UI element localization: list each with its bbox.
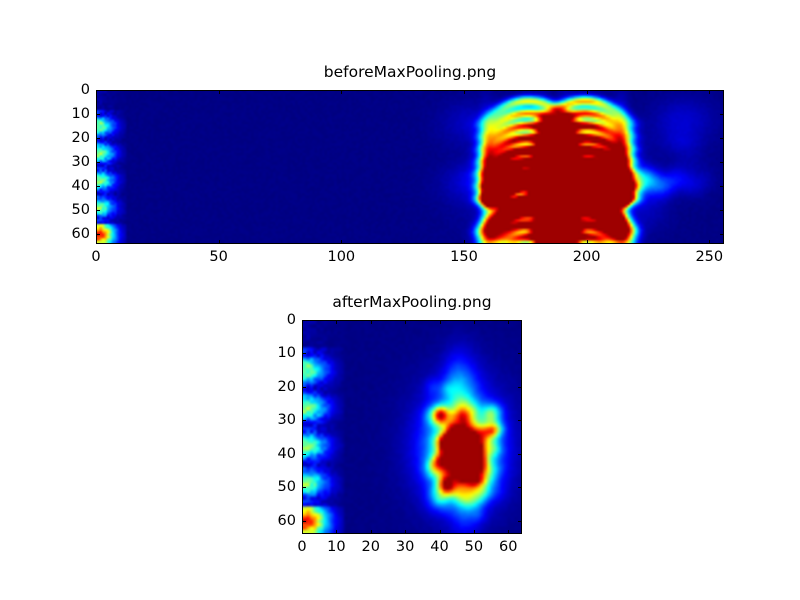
y-tick-right xyxy=(720,234,724,235)
x-tick-label: 150 xyxy=(450,250,478,265)
x-tick-top xyxy=(474,320,475,324)
y-tick-right xyxy=(720,138,724,139)
y-tick-label: 10 xyxy=(62,107,90,122)
heatmap-after-max-pooling xyxy=(302,320,522,534)
x-tick-top xyxy=(219,90,220,94)
y-tick xyxy=(96,162,100,163)
x-tick-top xyxy=(440,320,441,324)
y-tick-label: 20 xyxy=(62,131,90,146)
y-tick-label: 40 xyxy=(62,179,90,194)
heatmap-before-max-pooling xyxy=(96,90,724,244)
x-tick xyxy=(587,240,588,244)
x-tick xyxy=(464,240,465,244)
y-tick-right xyxy=(518,521,522,522)
y-tick xyxy=(96,186,100,187)
x-tick xyxy=(709,240,710,244)
x-tick-top xyxy=(405,320,406,324)
y-tick xyxy=(302,353,306,354)
y-tick xyxy=(302,387,306,388)
y-tick-right xyxy=(518,387,522,388)
x-tick-label: 0 xyxy=(91,250,100,265)
heatmap-canvas xyxy=(97,91,723,243)
y-tick-right xyxy=(518,420,522,421)
y-tick xyxy=(96,210,100,211)
y-tick-label: 10 xyxy=(268,346,296,361)
y-tick-label: 40 xyxy=(268,447,296,462)
x-tick-top xyxy=(464,90,465,94)
x-tick-label: 50 xyxy=(465,540,483,555)
x-tick-top xyxy=(587,90,588,94)
x-tick-label: 40 xyxy=(430,540,448,555)
y-tick xyxy=(302,487,306,488)
x-tick xyxy=(341,240,342,244)
y-tick-label: 30 xyxy=(268,413,296,428)
y-tick xyxy=(96,234,100,235)
y-tick-right xyxy=(720,162,724,163)
y-tick-right xyxy=(518,320,522,321)
x-tick-label: 100 xyxy=(327,250,355,265)
y-tick-label: 60 xyxy=(62,227,90,242)
y-tick xyxy=(96,138,100,139)
plot-title-after: afterMaxPooling.png xyxy=(302,295,522,311)
y-tick xyxy=(302,521,306,522)
x-tick-label: 60 xyxy=(499,540,517,555)
x-tick-label: 30 xyxy=(396,540,414,555)
y-tick-right xyxy=(518,487,522,488)
plot-title-before: beforeMaxPooling.png xyxy=(96,65,724,81)
y-tick-right xyxy=(720,186,724,187)
x-tick xyxy=(336,530,337,534)
x-tick-label: 0 xyxy=(297,540,306,555)
y-tick-right xyxy=(518,353,522,354)
y-tick-label: 50 xyxy=(62,203,90,218)
x-tick xyxy=(405,530,406,534)
y-tick xyxy=(302,420,306,421)
y-tick xyxy=(96,114,100,115)
heatmap-canvas xyxy=(303,321,521,533)
x-tick xyxy=(302,530,303,534)
y-tick xyxy=(302,454,306,455)
x-tick-label: 200 xyxy=(573,250,601,265)
y-tick-right xyxy=(720,210,724,211)
x-tick xyxy=(219,240,220,244)
x-tick xyxy=(474,530,475,534)
y-tick xyxy=(302,320,306,321)
y-tick-right xyxy=(720,90,724,91)
x-tick-label: 20 xyxy=(362,540,380,555)
x-tick-top xyxy=(371,320,372,324)
y-tick-right xyxy=(518,454,522,455)
x-tick-label: 10 xyxy=(327,540,345,555)
x-tick xyxy=(96,240,97,244)
x-tick xyxy=(371,530,372,534)
x-tick-label: 250 xyxy=(695,250,723,265)
y-tick-label: 20 xyxy=(268,380,296,395)
x-tick-label: 50 xyxy=(209,250,227,265)
x-tick-top xyxy=(336,320,337,324)
x-tick xyxy=(440,530,441,534)
y-tick-label: 30 xyxy=(62,155,90,170)
x-tick xyxy=(508,530,509,534)
x-tick-top xyxy=(709,90,710,94)
x-tick-top xyxy=(508,320,509,324)
y-tick-label: 0 xyxy=(62,83,90,98)
y-tick xyxy=(96,90,100,91)
heatmap-image-after xyxy=(303,321,521,533)
y-tick-label: 0 xyxy=(268,313,296,328)
matplotlib-figure: beforeMaxPooling.png 0501001502002500102… xyxy=(0,0,800,600)
heatmap-image-before xyxy=(97,91,723,243)
x-tick-top xyxy=(341,90,342,94)
y-tick-label: 50 xyxy=(268,480,296,495)
y-tick-right xyxy=(720,114,724,115)
y-tick-label: 60 xyxy=(268,513,296,528)
